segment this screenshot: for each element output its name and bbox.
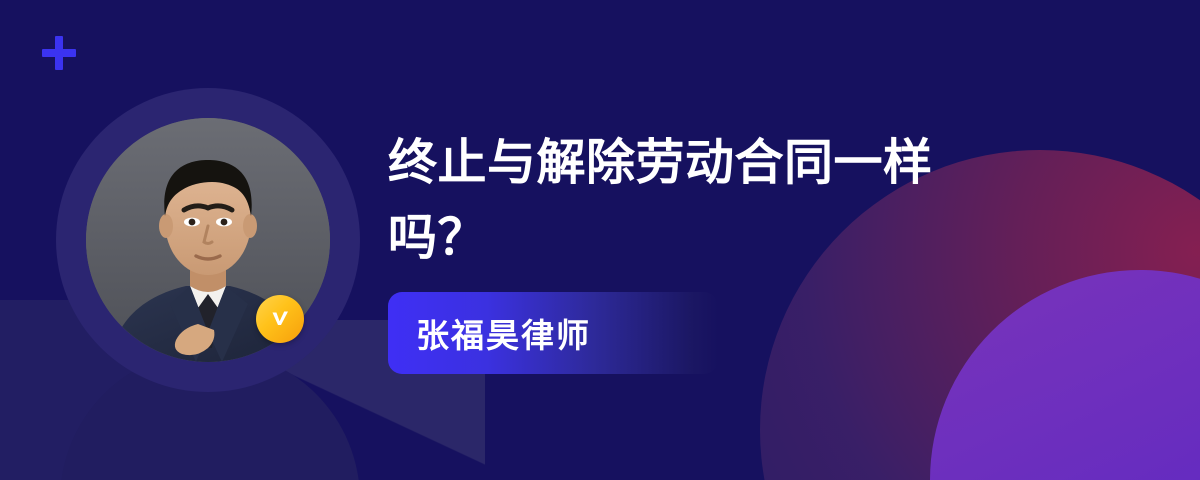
content-column: 终止与解除劳动合同一样吗？ 张福昊律师	[388, 126, 1088, 374]
author-name-button[interactable]: 张福昊律师	[388, 292, 718, 374]
page-title: 终止与解除劳动合同一样吗？	[388, 126, 1008, 276]
avatar	[56, 88, 360, 392]
promo-banner: 终止与解除劳动合同一样吗？ 张福昊律师	[0, 0, 1200, 480]
verified-badge	[256, 295, 304, 343]
plus-icon	[42, 36, 76, 70]
